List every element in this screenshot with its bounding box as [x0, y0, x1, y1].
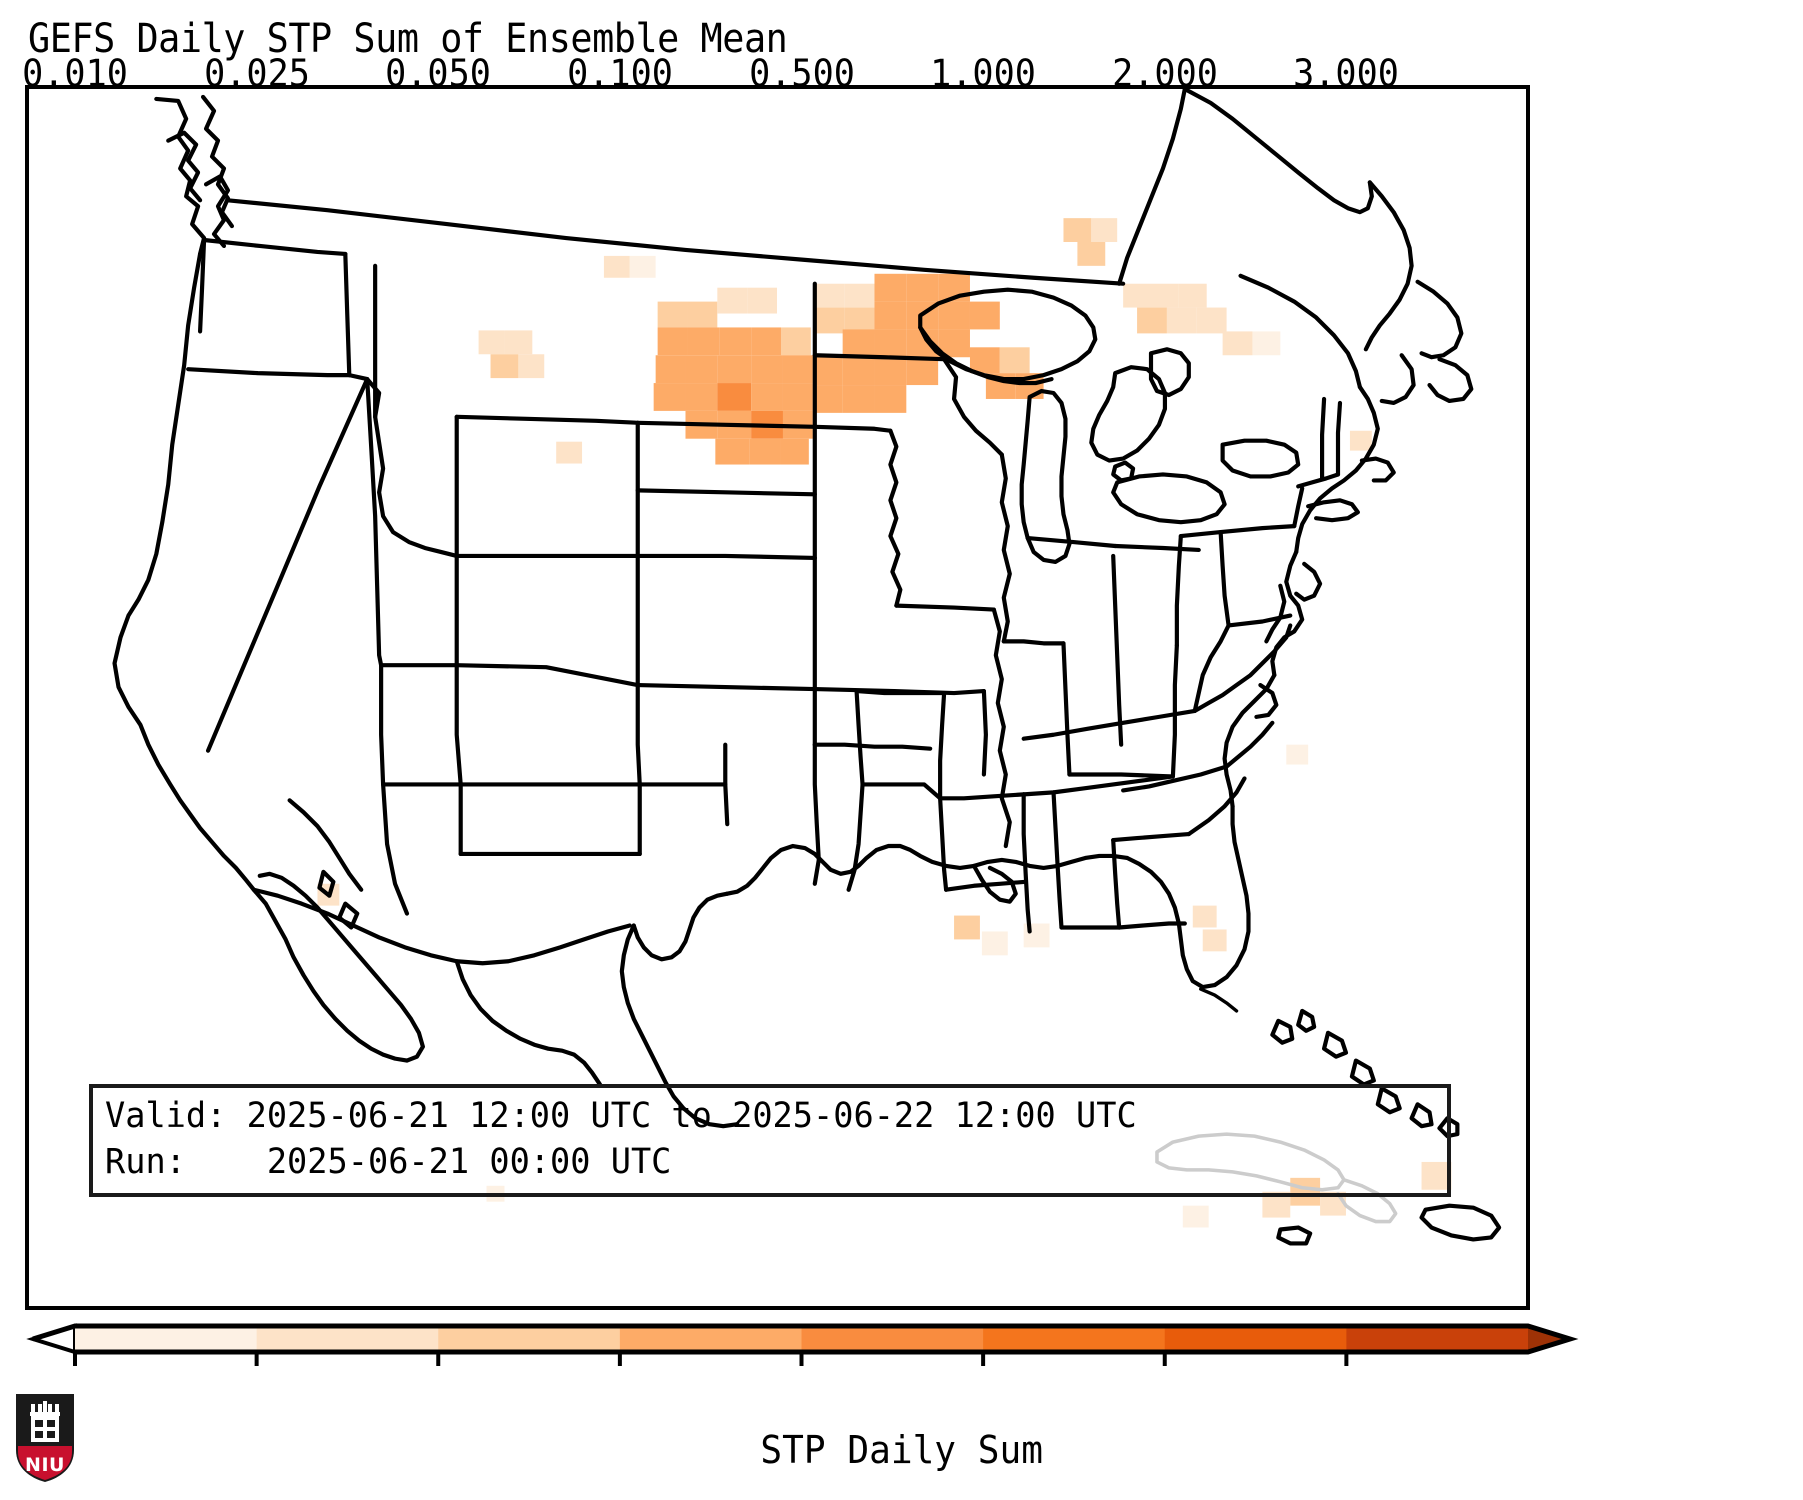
colorbar-band	[983, 1326, 1165, 1352]
colorbar-band	[620, 1326, 802, 1352]
valid-time-text: Valid: 2025-06-21 12:00 UTC to 2025-06-2…	[105, 1096, 1137, 1136]
colorbar-band	[1165, 1326, 1347, 1352]
colorbar-band	[1346, 1326, 1528, 1352]
map-panel: Valid: 2025-06-21 12:00 UTC to 2025-06-2…	[25, 85, 1530, 1310]
colorbar-band	[438, 1326, 620, 1352]
colorbar-band	[75, 1326, 257, 1352]
colorbar-band	[802, 1326, 984, 1352]
forecast-info-box: Valid: 2025-06-21 12:00 UTC to 2025-06-2…	[89, 1084, 1451, 1197]
colorbar-axis-label: STP Daily Sum	[0, 1428, 1803, 1472]
svg-text:NIU: NIU	[25, 1454, 65, 1476]
colorbar-swatches	[0, 1318, 1803, 1376]
colorbar-band	[257, 1326, 439, 1352]
niu-logo: NIU	[14, 1392, 76, 1484]
colorbar	[0, 1318, 1803, 1378]
run-time-text: Run: 2025-06-21 00:00 UTC	[105, 1142, 671, 1182]
